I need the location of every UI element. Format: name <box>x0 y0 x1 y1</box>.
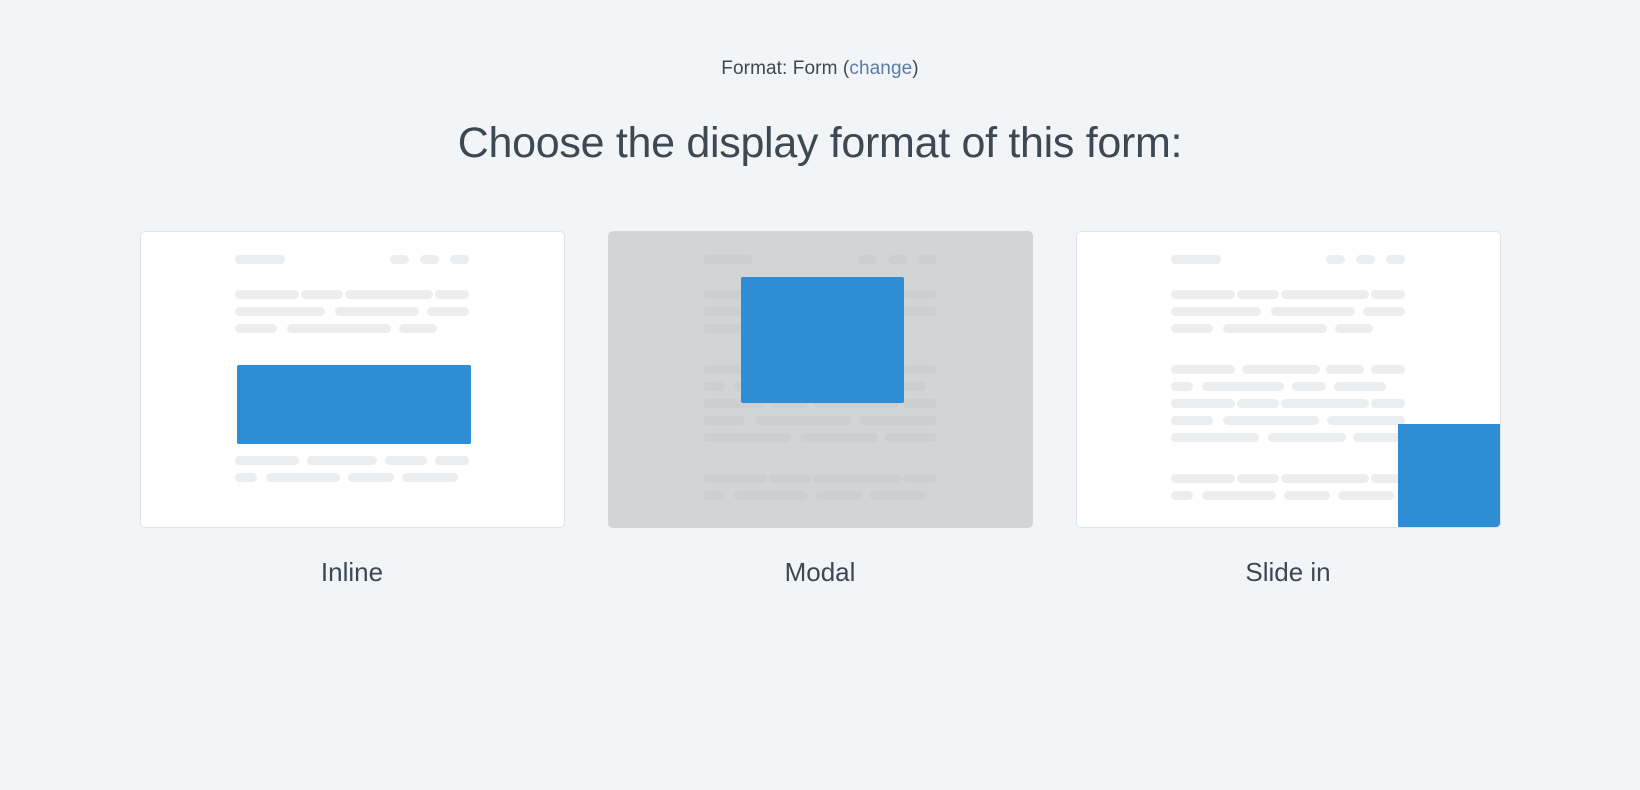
skeleton-text-row <box>1171 416 1405 425</box>
skeleton-text-bar <box>1223 324 1327 333</box>
skeleton-text-row <box>703 416 937 425</box>
skeleton-text-bar <box>816 491 862 500</box>
page-title: Choose the display format of this form: <box>0 81 1640 169</box>
skeleton-text-bar <box>903 365 937 374</box>
skeleton-text-bar <box>734 491 808 500</box>
format-prefix-label: Format: Form ( <box>721 58 849 79</box>
skeleton-text-bar <box>1202 491 1276 500</box>
format-chooser-page: Format: Form (change) Choose the display… <box>0 0 1640 790</box>
skeleton-text-bar <box>703 416 745 425</box>
skeleton-text-bar <box>1281 474 1369 483</box>
skeleton-text-bar <box>1268 433 1346 442</box>
slide-in-preview-card[interactable] <box>1076 231 1501 528</box>
skeleton-text-bar <box>800 433 878 442</box>
skeleton-text-row <box>1171 290 1405 299</box>
skeleton-nav-bar <box>858 255 877 264</box>
skeleton-text-bar <box>1171 433 1259 442</box>
skeleton-text-bar <box>1171 491 1193 500</box>
skeleton-text-bar <box>859 416 937 425</box>
skeleton-text-bar <box>348 473 394 482</box>
skeleton-text-row <box>1171 307 1405 316</box>
skeleton-header-row <box>1171 255 1405 264</box>
skeleton-text-bar <box>1242 365 1320 374</box>
skeleton-text-bar <box>1223 416 1319 425</box>
skeleton-text-bar <box>235 473 257 482</box>
skeleton-text-bar <box>1171 399 1235 408</box>
skeleton-text-bar <box>903 399 937 408</box>
skeleton-logo-bar <box>1171 255 1221 264</box>
format-suffix-label: ) <box>912 58 918 79</box>
skeleton-text-bar <box>1237 290 1279 299</box>
skeleton-text-bar <box>1335 324 1373 333</box>
skeleton-text-bar <box>903 290 937 299</box>
skeleton-text-bar <box>813 474 901 483</box>
skeleton-text-bar <box>1171 474 1235 483</box>
skeleton-text-row <box>235 473 469 482</box>
skeleton-text-bar <box>402 473 458 482</box>
inline-skeleton-footer <box>141 232 564 527</box>
skeleton-text-bar <box>703 382 725 391</box>
skeleton-text-bar <box>435 456 469 465</box>
skeleton-text-bar <box>1371 365 1405 374</box>
format-option-label-inline: Inline <box>321 556 383 588</box>
skeleton-logo-bar <box>703 255 753 264</box>
skeleton-text-bar <box>703 324 745 333</box>
skeleton-nav-bar <box>1386 255 1405 264</box>
skeleton-text-bar <box>307 456 377 465</box>
skeleton-text-row <box>1171 382 1405 391</box>
format-options-list: Inline <box>0 231 1640 588</box>
skeleton-text-bar <box>1171 365 1235 374</box>
skeleton-text-bar <box>1292 382 1326 391</box>
skeleton-text-bar <box>903 474 937 483</box>
skeleton-nav-bar <box>888 255 907 264</box>
skeleton-text-row <box>1171 491 1405 500</box>
skeleton-text-bar <box>1237 474 1279 483</box>
format-option-label-modal: Modal <box>785 556 856 588</box>
skeleton-text-row <box>703 433 937 442</box>
skeleton-text-row <box>1171 474 1405 483</box>
skeleton-text-bar <box>1327 416 1405 425</box>
format-option-slide-in[interactable]: Slide in <box>1075 231 1502 588</box>
spacer <box>609 442 1032 474</box>
skeleton-text-bar <box>1271 307 1355 316</box>
format-option-inline[interactable]: Inline <box>139 231 566 588</box>
skeleton-text-bar <box>755 416 851 425</box>
skeleton-nav-bar <box>1356 255 1375 264</box>
skeleton-text-row <box>1171 433 1405 442</box>
skeleton-text-bar <box>1363 307 1405 316</box>
skeleton-text-bar <box>266 473 340 482</box>
skeleton-nav-bar <box>918 255 937 264</box>
format-option-modal[interactable]: Modal <box>607 231 1034 588</box>
skeleton-text-bar <box>235 456 299 465</box>
format-option-label-slide-in: Slide in <box>1245 556 1330 588</box>
skeleton-text-row <box>235 456 469 465</box>
skeleton-text-bar <box>1281 399 1369 408</box>
skeleton-text-bar <box>1171 416 1213 425</box>
skeleton-text-bar <box>1171 290 1235 299</box>
skeleton-text-bar <box>1281 290 1369 299</box>
skeleton-text-bar <box>703 433 791 442</box>
skeleton-text-bar <box>1171 382 1193 391</box>
skeleton-text-bar <box>769 474 811 483</box>
skeleton-header-row <box>703 255 937 264</box>
modal-dialog-block <box>741 277 904 403</box>
inline-preview-card[interactable] <box>140 231 565 528</box>
modal-preview-card[interactable] <box>608 231 1033 528</box>
skeleton-text-bar <box>1371 290 1405 299</box>
spacer <box>1077 333 1500 365</box>
skeleton-nav-group <box>1326 255 1405 264</box>
skeleton-nav-group <box>858 255 937 264</box>
skeleton-text-bar <box>1237 399 1279 408</box>
skeleton-text-row <box>1171 324 1405 333</box>
skeleton-text-row <box>1171 365 1405 374</box>
change-format-link[interactable]: change <box>849 58 912 79</box>
skeleton-text-bar <box>1171 307 1261 316</box>
skeleton-text-bar <box>703 491 725 500</box>
skeleton-text-row <box>1171 399 1405 408</box>
skeleton-nav-bar <box>1326 255 1345 264</box>
format-status-line: Format: Form (change) <box>0 0 1640 81</box>
skeleton-text-bar <box>1202 382 1284 391</box>
skeleton-text-bar <box>870 491 926 500</box>
skeleton-text-bar <box>1326 365 1364 374</box>
skeleton-text-bar <box>1338 491 1394 500</box>
skeleton-text-bar <box>385 456 427 465</box>
skeleton-text-bar <box>703 474 767 483</box>
skeleton-text-bar <box>885 433 937 442</box>
spacer <box>1077 264 1500 290</box>
skeleton-text-bar <box>1284 491 1330 500</box>
skeleton-text-bar <box>1171 324 1213 333</box>
skeleton-text-bar <box>1334 382 1386 391</box>
skeleton-text-row <box>703 491 937 500</box>
skeleton-text-row <box>703 474 937 483</box>
slide-in-panel-block <box>1398 424 1500 527</box>
skeleton-text-bar <box>1371 399 1405 408</box>
